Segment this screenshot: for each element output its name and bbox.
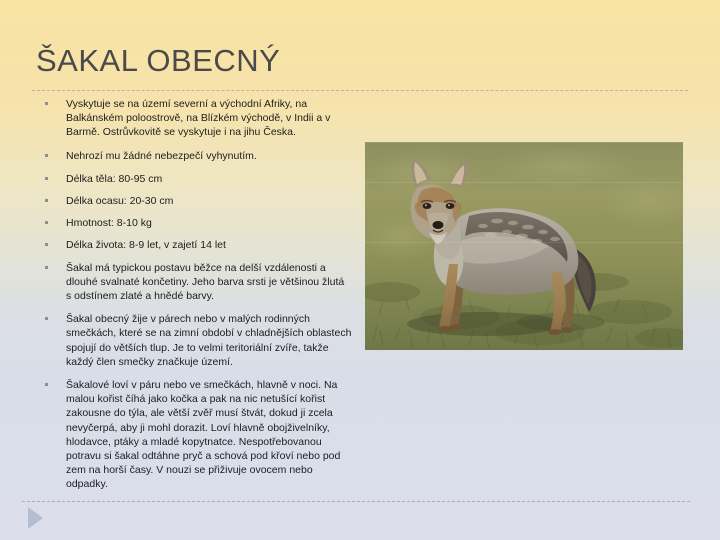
list-item: Nehrozí mu žádné nebezpečí vyhynutím. (40, 149, 352, 163)
list-item: Délka života: 8-9 let, v zajetí 14 let (40, 238, 352, 252)
golden-jackal-photo (365, 142, 683, 350)
page-title: ŠAKAL OBECNÝ (36, 44, 280, 78)
list-item: Šakal má typickou postavu běžce na delší… (40, 261, 352, 304)
slide-canvas: ŠAKAL OBECNÝ Vyskytuje se na území sever… (0, 0, 720, 540)
list-item: Délka těla: 80-95 cm (40, 172, 352, 186)
content-bullet-list: Vyskytuje se na území severní a východní… (40, 97, 352, 501)
list-item: Šakal obecný žije v párech nebo v malých… (40, 312, 352, 369)
list-item: Vyskytuje se na území severní a východní… (40, 97, 352, 140)
list-item: Šakalové loví v páru nebo ve smečkách, h… (40, 378, 352, 492)
list-item: Hmotnost: 8-10 kg (40, 216, 352, 230)
list-item: Délka ocasu: 20-30 cm (40, 194, 352, 208)
footer-divider (22, 501, 690, 502)
next-slide-arrow-icon[interactable] (28, 507, 43, 529)
title-divider (32, 90, 688, 91)
